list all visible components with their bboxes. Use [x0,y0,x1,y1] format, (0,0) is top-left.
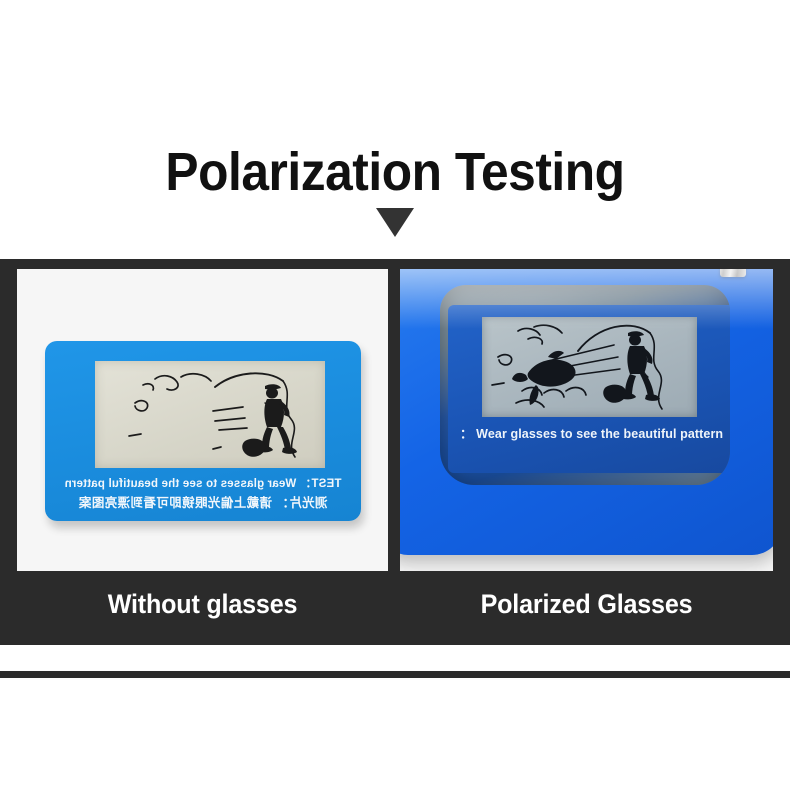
page-title: Polarization Testing [32,142,759,202]
arrow-indicator [0,208,790,242]
glasses-frame: ： Wear glasses to see the beautiful patt… [400,269,773,555]
fisherman-illustration [95,361,325,468]
section-divider [0,671,790,678]
caption-polarized-glasses: Polarized Glasses [413,584,760,624]
triangle-down-icon [376,208,414,237]
comparison-panels: TEST： Wear glasses to see the beautiful … [0,259,790,645]
glasses-hinge-icon [720,269,746,277]
caption-without-glasses: Without glasses [30,584,375,624]
revealed-pattern-patch [482,317,697,417]
glasses-photo: ： Wear glasses to see the beautiful patt… [400,269,773,571]
test-card-text-en: TEST： Wear glasses to see the beautiful … [45,475,361,491]
photo-polarized-glasses: ： Wear glasses to see the beautiful patt… [400,269,773,571]
test-card-text-through-lens: ： Wear glasses to see the beautiful patt… [460,423,730,442]
test-card-text-zh: 测光片： 请戴上偏光眼镜即可看到漂亮图案 [45,492,361,511]
fisherman-and-fish-illustration [482,317,697,417]
polarization-test-card: TEST： Wear glasses to see the beautiful … [45,341,361,521]
photo-without-glasses: TEST： Wear glasses to see the beautiful … [17,269,388,571]
test-card-pattern-patch [95,361,325,468]
test-card-through-lens: ： Wear glasses to see the beautiful patt… [448,305,730,473]
polarized-lens: ： Wear glasses to see the beautiful patt… [440,285,730,485]
polarization-testing-page: Polarization Testing [0,0,790,790]
comparison-band: TEST： Wear glasses to see the beautiful … [0,259,790,645]
